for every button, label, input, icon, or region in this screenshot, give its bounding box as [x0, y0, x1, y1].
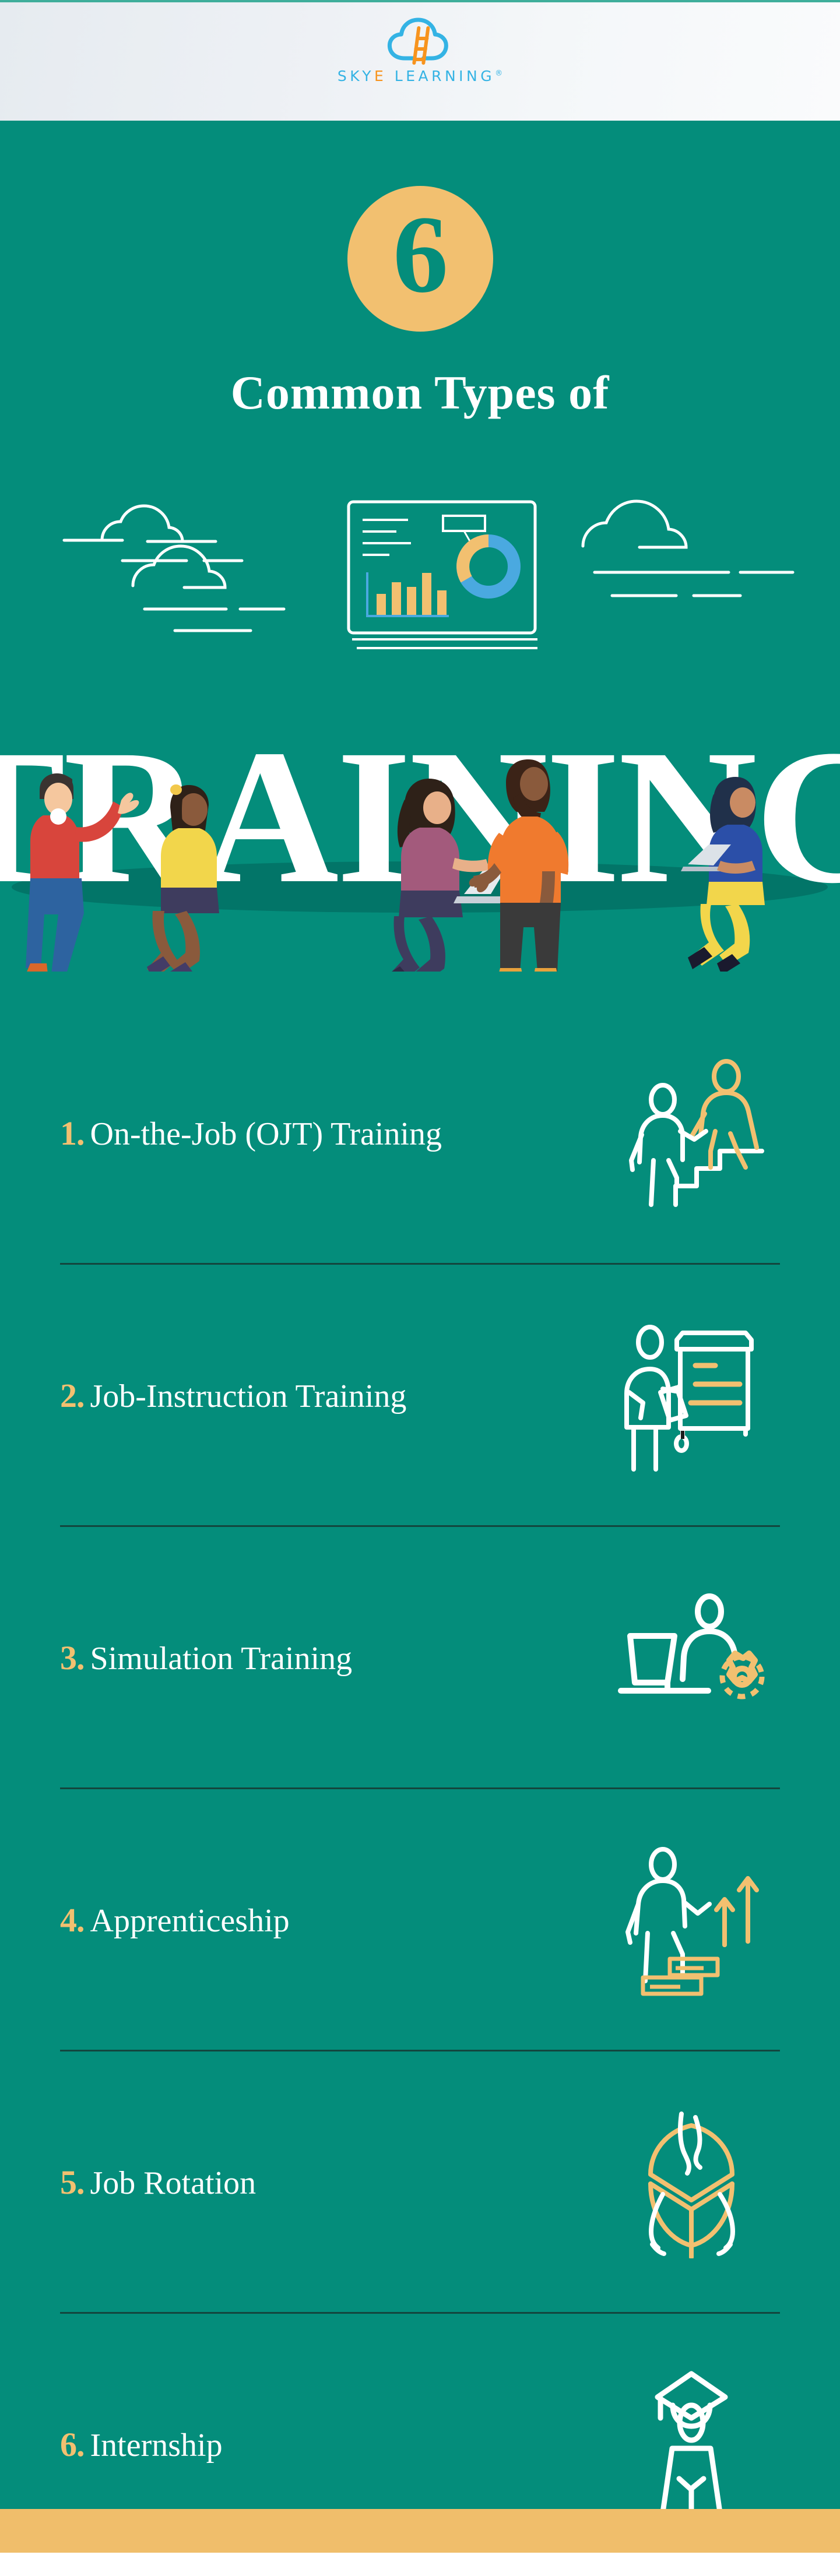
- list-item-label: 6.Internship: [60, 2428, 223, 2462]
- list-item-text: On-the-Job (OJT) Training: [90, 1116, 442, 1152]
- list-item-text: Simulation Training: [90, 1641, 353, 1677]
- list-item[interactable]: 5.Job Rotation: [0, 2051, 840, 2314]
- count-badge-number: 6: [393, 199, 447, 310]
- list-item-number: 6.: [60, 2426, 85, 2464]
- brand-part-e: E: [374, 68, 386, 85]
- list-item-number: 3.: [60, 1639, 85, 1677]
- list-item-number: 1.: [60, 1114, 85, 1152]
- list-item-label: 1.On-the-Job (OJT) Training: [60, 1117, 442, 1150]
- brand-part-sky: SKY: [338, 68, 374, 85]
- cloud-with-ladder-icon: [385, 15, 455, 66]
- list-item-label: 3.Simulation Training: [60, 1641, 352, 1675]
- brand-wordmark: SKYE LEARNING®: [338, 69, 502, 83]
- list-item-label: 5.Job Rotation: [60, 2166, 256, 2200]
- list-item-label: 2.Job-Instruction Training: [60, 1379, 406, 1413]
- list-item[interactable]: 1.On-the-Job (OJT) Training: [0, 1002, 840, 1265]
- list-item-text: Job Rotation: [90, 2165, 256, 2201]
- list-item-text: Job-Instruction Training: [90, 1378, 407, 1414]
- brand-logo[interactable]: SKYE LEARNING®: [338, 15, 502, 83]
- list-item[interactable]: 4.Apprenticeship: [0, 1789, 840, 2051]
- list-item-text: Apprenticeship: [90, 1903, 290, 1939]
- list-item-number: 2.: [60, 1377, 85, 1414]
- list-item-text: Internship: [90, 2427, 223, 2464]
- person-on-books-with-arrows-icon: [607, 1845, 776, 1996]
- count-badge: 6: [347, 186, 493, 332]
- instructor-at-flipchart-icon: [607, 1320, 776, 1472]
- graduate-with-cap-icon: [607, 2369, 776, 2521]
- mentor-helping-up-stairs-icon: [607, 1058, 776, 1209]
- rotating-hands-circle-icon: [607, 2107, 776, 2258]
- footer-accent-bar: [0, 2509, 840, 2553]
- list-item-label: 4.Apprenticeship: [60, 1903, 290, 1937]
- laptop-person-gear-icon: [607, 1582, 776, 1734]
- page-title: Common Types of: [0, 365, 840, 420]
- hero-illustration: TRAINING: [0, 447, 840, 972]
- brand-registered-mark: ®: [495, 69, 502, 78]
- site-header: SKYE LEARNING®: [0, 0, 840, 121]
- list-item[interactable]: 2.Job-Instruction Training: [0, 1265, 840, 1527]
- brand-part-learning: LEARNING: [386, 68, 495, 85]
- training-types-list: 1.On-the-Job (OJT) Training: [0, 1002, 840, 2576]
- infographic-body: 6 Common Types of: [0, 121, 840, 2509]
- list-item-number: 5.: [60, 2163, 85, 2201]
- list-item[interactable]: 3.Simulation Training: [0, 1527, 840, 1789]
- list-item-number: 4.: [60, 1901, 85, 1939]
